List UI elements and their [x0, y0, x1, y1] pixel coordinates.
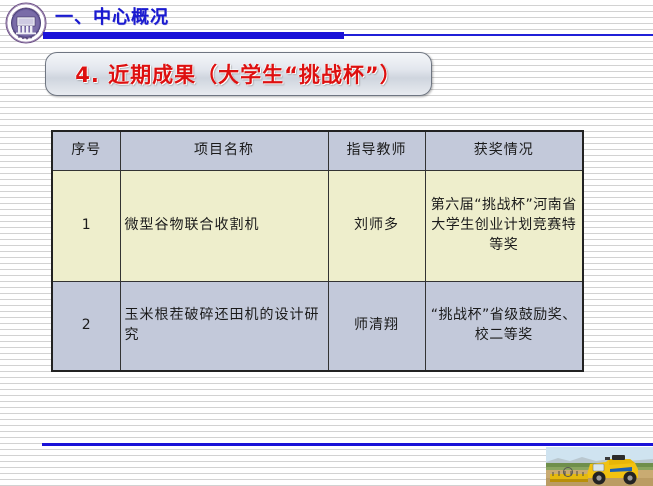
header-rule-thin — [344, 34, 653, 36]
header-rule-thick — [43, 32, 344, 39]
cell-no: 1 — [52, 171, 120, 282]
table-header-row: 序号 项目名称 指导教师 获奖情况 — [52, 131, 583, 171]
cell-name: 玉米根茬破碎还田机的设计研究 — [120, 282, 328, 372]
university-emblem-logo — [4, 2, 48, 44]
recent-achievements-table: 序号 项目名称 指导教师 获奖情况 1 微型谷物联合收割机 刘师多 第六届“挑战… — [51, 130, 584, 372]
footer-rule — [42, 443, 653, 446]
column-header-name: 项目名称 — [120, 131, 328, 171]
section-banner-label: 4. 近期成果（大学生“挑战杯”） — [75, 59, 402, 89]
section-banner: 4. 近期成果（大学生“挑战杯”） — [45, 52, 432, 96]
cell-award: “挑战杯”省级鼓励奖、校二等奖 — [425, 282, 583, 372]
table-row: 2 玉米根茬破碎还田机的设计研究 师清翔 “挑战杯”省级鼓励奖、校二等奖 — [52, 282, 583, 372]
column-header-tutor: 指导教师 — [328, 131, 425, 171]
cell-tutor: 师清翔 — [328, 282, 425, 372]
page-title: 一、中心概况 — [55, 3, 169, 29]
cell-award: 第六届“挑战杯”河南省大学生创业计划竞赛特等奖 — [425, 171, 583, 282]
slide-canvas: 一、中心概况 4. 近期成果（大学生“挑战杯”） 序号 项目名称 指导教师 获奖… — [0, 0, 653, 486]
cell-no: 2 — [52, 282, 120, 372]
combine-harvester-photo — [546, 447, 653, 486]
slide-header: 一、中心概况 — [0, 0, 653, 46]
cell-tutor: 刘师多 — [328, 171, 425, 282]
cell-name: 微型谷物联合收割机 — [120, 171, 328, 282]
column-header-no: 序号 — [52, 131, 120, 171]
column-header-award: 获奖情况 — [425, 131, 583, 171]
table-row: 1 微型谷物联合收割机 刘师多 第六届“挑战杯”河南省大学生创业计划竞赛特等奖 — [52, 171, 583, 282]
